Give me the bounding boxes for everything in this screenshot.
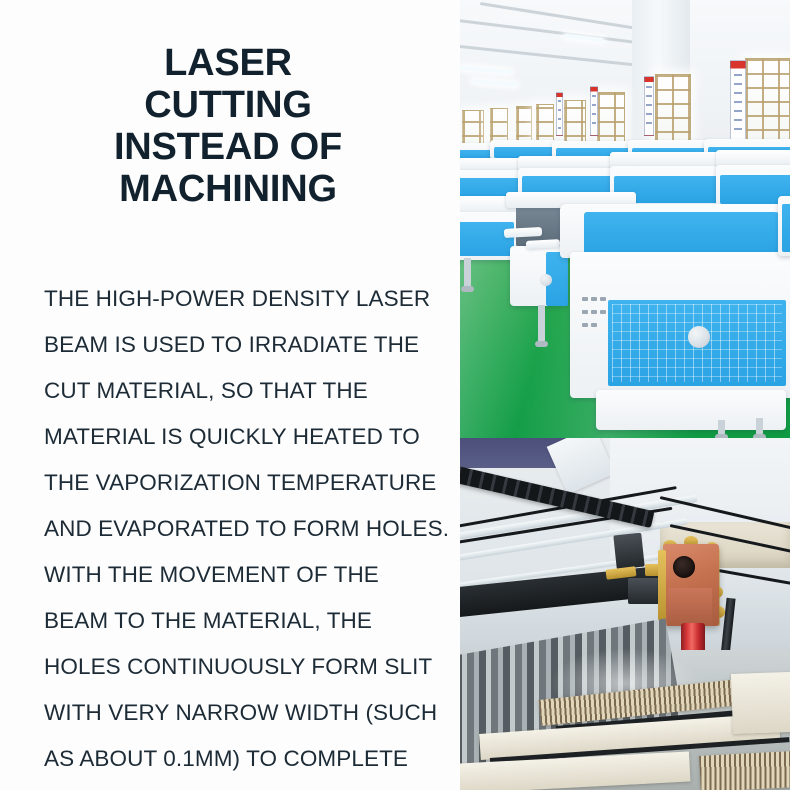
body-line-1: THE HIGH-POWER DENSITY LASER — [44, 276, 456, 322]
body-line-10: WITH VERY NARROW WIDTH (SUCH — [44, 690, 456, 736]
machine-leg — [718, 420, 725, 436]
laser-cutting-head-closeup-photo — [460, 438, 790, 790]
hanging-banner — [556, 92, 563, 136]
laser-machine-factory-floor-photo — [460, 0, 790, 438]
page-title: LASER CUTTING INSTEAD OF MACHINING — [0, 42, 456, 210]
brass-mount-plate — [658, 550, 666, 624]
hanging-banner — [590, 86, 598, 136]
factory-window — [655, 74, 691, 148]
material-sheet — [731, 672, 790, 734]
text-column: LASER CUTTING INSTEAD OF MACHINING THE H… — [0, 0, 460, 790]
laser-head-aperture — [673, 556, 695, 578]
body-line-6: AND EVAPORATED TO FORM HOLES. — [44, 506, 456, 552]
headline-line-1: LASER — [0, 42, 456, 84]
photo-column — [460, 0, 790, 790]
machine-leg — [538, 305, 545, 343]
machine-door-window — [688, 326, 710, 348]
headline-line-2: CUTTING — [0, 84, 456, 126]
headline-line-3: INSTEAD OF — [0, 126, 456, 168]
machine-control-knobs — [582, 310, 606, 314]
body-line-11: AS ABOUT 0.1MM) TO COMPLETE — [44, 736, 456, 782]
body-line-2: BEAM IS USED TO IRRADIATE THE — [44, 322, 456, 368]
body-line-8: BEAM TO THE MATERIAL, THE — [44, 598, 456, 644]
hanging-banner — [644, 76, 654, 136]
carriage-block — [613, 533, 644, 570]
cut-material-strip — [699, 750, 790, 790]
headline-line-4: MACHINING — [0, 168, 456, 210]
body-line-9: HOLES CONTINUOUSLY FORM SLIT — [44, 644, 456, 690]
body-paragraph: THE HIGH-POWER DENSITY LASER BEAM IS USE… — [44, 276, 456, 782]
hanging-banner — [730, 60, 746, 146]
body-line-4: MATERIAL IS QUICKLY HEATED TO — [44, 414, 456, 460]
poster-page: LASER CUTTING INSTEAD OF MACHINING THE H… — [0, 0, 790, 790]
machine-leg — [464, 258, 471, 288]
machine-control-knobs — [582, 323, 597, 327]
factory-window — [745, 58, 790, 146]
machine-blue-lid — [584, 212, 788, 256]
machine-control-knobs — [582, 297, 606, 301]
machine-leg — [756, 418, 763, 436]
body-line-3: CUT MATERIAL, SO THAT THE — [44, 368, 456, 414]
body-line-7: WITH THE MOVEMENT OF THE — [44, 552, 456, 598]
machine-control-port — [540, 274, 552, 286]
machine-blue-panel — [782, 204, 790, 252]
body-line-5: THE VAPORIZATION TEMPERATURE — [44, 460, 456, 506]
laser-head-face — [668, 588, 712, 626]
machine-blue-panel — [460, 222, 514, 256]
